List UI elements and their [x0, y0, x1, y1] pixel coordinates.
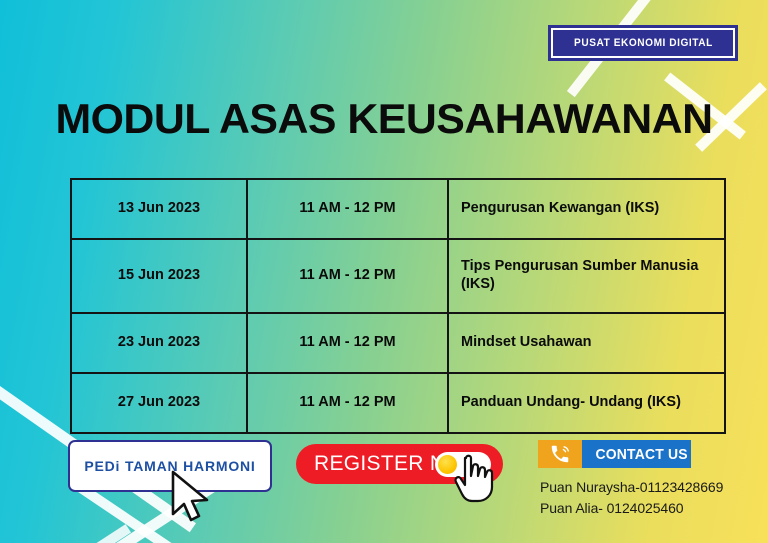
pusat-ekonomi-digital-badge: PUSAT EKONOMI DIGITAL: [548, 25, 738, 61]
cell-topic: Pengurusan Kewangan (IKS): [448, 179, 725, 239]
contact-people-list: Puan Nuraysha-01123428669 Puan Alia- 012…: [540, 479, 764, 516]
cell-date: 13 Jun 2023: [71, 179, 247, 239]
pointing-hand-cursor-icon: [452, 452, 500, 504]
page-title: MODUL ASAS KEUSAHAWANAN: [0, 95, 768, 143]
cell-date: 23 Jun 2023: [71, 313, 247, 373]
cell-time: 11 AM - 12 PM: [247, 179, 448, 239]
contact-us-bar: CONTACT US: [538, 440, 691, 468]
schedule-table: 13 Jun 2023 11 AM - 12 PM Pengurusan Kew…: [70, 178, 726, 434]
table-row: 15 Jun 2023 11 AM - 12 PM Tips Pengurusa…: [71, 239, 725, 313]
poster-canvas: PUSAT EKONOMI DIGITAL MODUL ASAS KEUSAHA…: [0, 0, 768, 543]
list-item: Puan Nuraysha-01123428669: [540, 479, 764, 495]
cell-topic: Panduan Undang- Undang (IKS): [448, 373, 725, 433]
cell-date: 15 Jun 2023: [71, 239, 247, 313]
badge-label: PUSAT EKONOMI DIGITAL: [574, 37, 713, 49]
cell-topic: Tips Pengurusan Sumber Manusia (IKS): [448, 239, 725, 313]
cell-time: 11 AM - 12 PM: [247, 313, 448, 373]
contact-us-heading: CONTACT US: [582, 440, 691, 468]
cell-topic: Mindset Usahawan: [448, 313, 725, 373]
deco-line-bottom-left-3: [25, 524, 131, 543]
cell-date: 27 Jun 2023: [71, 373, 247, 433]
list-item: Puan Alia- 0124025460: [540, 500, 764, 516]
contact-section: CONTACT US Puan Nuraysha-01123428669 Pua…: [538, 440, 764, 516]
table-row: 13 Jun 2023 11 AM - 12 PM Pengurusan Kew…: [71, 179, 725, 239]
contact-us-heading-text: CONTACT US: [595, 446, 687, 463]
arrow-cursor-icon: [170, 470, 212, 524]
cell-time: 11 AM - 12 PM: [247, 373, 448, 433]
cell-time: 11 AM - 12 PM: [247, 239, 448, 313]
table-row: 23 Jun 2023 11 AM - 12 PM Mindset Usahaw…: [71, 313, 725, 373]
phone-icon: [538, 440, 582, 468]
table-row: 27 Jun 2023 11 AM - 12 PM Panduan Undang…: [71, 373, 725, 433]
